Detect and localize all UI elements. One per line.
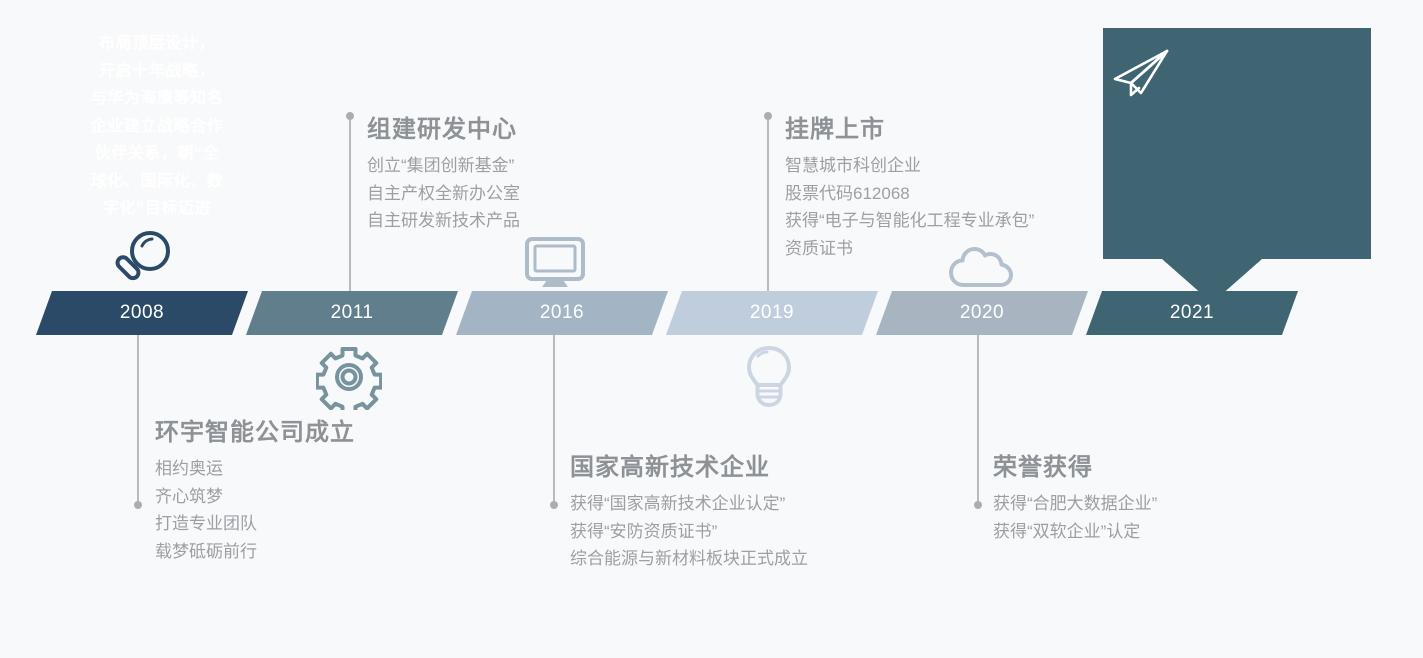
event-line: 获得“合肥大数据企业” — [993, 490, 1157, 518]
event-line: 自主产权全新办公室 — [367, 180, 520, 208]
timeline-segment-2011[interactable]: 2011 — [246, 291, 458, 335]
event-line: 打造专业团队 — [155, 510, 355, 538]
timeline-segment-2016[interactable]: 2016 — [456, 291, 668, 335]
event-block-2008: 环宇智能公司成立 相约奥运 齐心筑梦 打造专业团队 载梦砥砺前行 — [155, 420, 355, 566]
timeline-year-label: 2019 — [674, 291, 870, 335]
event-line: 自主研发新技术产品 — [367, 207, 520, 235]
event-lines: 相约奥运 齐心筑梦 打造专业团队 载梦砥砺前行 — [155, 455, 355, 565]
connector-dot — [550, 501, 558, 509]
event-line: 智慧城市科创企业 — [785, 152, 1034, 180]
event-block-2016: 国家高新技术企业 获得“国家高新技术企业认定” 获得“安防资质证书” 综合能源与… — [570, 455, 808, 573]
event-block-2020: 荣誉获得 获得“合肥大数据企业” 获得“双软企业”认定 — [993, 455, 1157, 545]
lightbulb-icon — [745, 345, 793, 409]
callout-text: 布局顶层设计， 开启十年战略， 与华为海康等知名 企业建立战略合作 伙伴关系，朝… — [58, 30, 256, 223]
timeline-year-label: 2020 — [884, 291, 1080, 335]
event-lines: 获得“合肥大数据企业” 获得“双软企业”认定 — [993, 490, 1157, 545]
event-line: 相约奥运 — [155, 455, 355, 483]
event-line: 齐心筑梦 — [155, 483, 355, 511]
event-heading: 挂牌上市 — [785, 117, 1034, 143]
event-line: 股票代码612068 — [785, 180, 1034, 208]
callout-line: 开启十年战略， — [58, 58, 256, 86]
timeline-segment-2019[interactable]: 2019 — [666, 291, 878, 335]
event-line: 获得“安防资质证书” — [570, 518, 808, 546]
monitor-icon — [524, 236, 586, 290]
callout-tail — [1162, 259, 1262, 303]
event-heading: 荣誉获得 — [993, 455, 1157, 481]
event-lines: 智慧城市科创企业 股票代码612068 获得“电子与智能化工程专业承包” 资质证… — [785, 152, 1034, 262]
event-heading: 国家高新技术企业 — [570, 455, 808, 481]
event-heading: 组建研发中心 — [367, 117, 520, 143]
callout-line: 球化、国际化、数 — [58, 168, 256, 196]
connector-2020 — [977, 335, 979, 505]
event-line: 载梦砥砺前行 — [155, 538, 355, 566]
timeline-year-label: 2016 — [464, 291, 660, 335]
callout-line: 字化”目标迈进 — [58, 195, 256, 223]
event-heading: 环宇智能公司成立 — [155, 420, 355, 446]
event-block-2019: 挂牌上市 智慧城市科创企业 股票代码612068 获得“电子与智能化工程专业承包… — [785, 117, 1034, 263]
event-line: 创立“集团创新基金” — [367, 152, 520, 180]
connector-2011 — [349, 116, 351, 291]
event-block-2011: 组建研发中心 创立“集团创新基金” 自主产权全新办公室 自主研发新技术产品 — [367, 117, 520, 235]
event-lines: 获得“国家高新技术企业认定” 获得“安防资质证书” 综合能源与新材料板块正式成立 — [570, 490, 808, 573]
connector-2016 — [553, 335, 555, 505]
timeline-year-label: 2008 — [44, 291, 240, 335]
event-line: 资质证书 — [785, 235, 1034, 263]
connector-dot — [974, 501, 982, 509]
gear-icon — [316, 344, 382, 410]
event-line: 综合能源与新材料板块正式成立 — [570, 545, 808, 573]
paper-plane-icon — [1112, 48, 1170, 100]
callout-line: 与华为海康等知名 — [58, 85, 256, 113]
callout-line: 伙伴关系，朝“全 — [58, 140, 256, 168]
timeline-infographic: 2008 2011 2016 2019 2020 2021 — [0, 0, 1423, 658]
timeline-segment-2008[interactable]: 2008 — [36, 291, 248, 335]
magnifier-icon — [108, 228, 178, 290]
callout-line: 企业建立战略合作 — [58, 113, 256, 141]
callout-line: 布局顶层设计， — [58, 30, 256, 58]
connector-2019 — [767, 116, 769, 291]
connector-dot — [764, 112, 772, 120]
event-lines: 创立“集团创新基金” 自主产权全新办公室 自主研发新技术产品 — [367, 152, 520, 235]
connector-dot — [134, 501, 142, 509]
timeline-year-label: 2011 — [254, 291, 450, 335]
event-line: 获得“电子与智能化工程专业承包” — [785, 207, 1034, 235]
event-line: 获得“双软企业”认定 — [993, 518, 1157, 546]
connector-dot — [346, 112, 354, 120]
connector-2008 — [137, 335, 139, 505]
timeline-segment-2020[interactable]: 2020 — [876, 291, 1088, 335]
event-line: 获得“国家高新技术企业认定” — [570, 490, 808, 518]
